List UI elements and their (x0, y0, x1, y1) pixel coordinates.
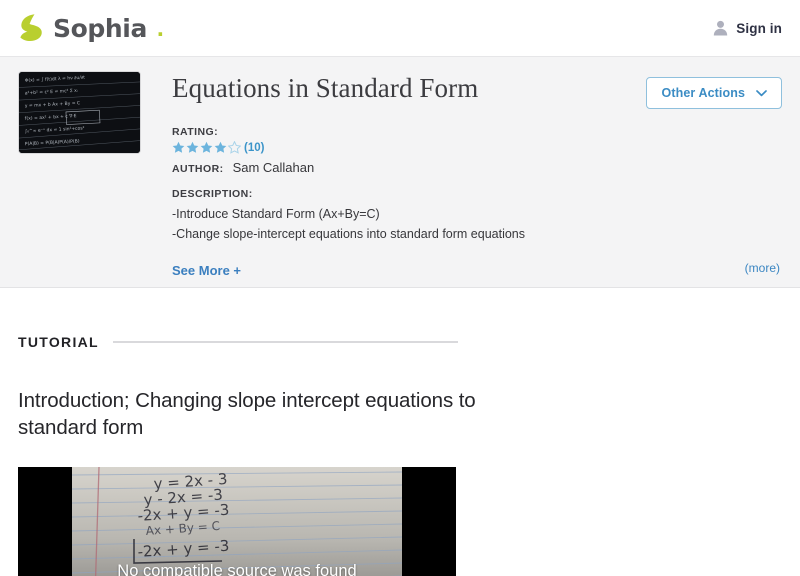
other-actions-button[interactable]: Other Actions (646, 77, 782, 109)
see-more-link[interactable]: See More + (172, 263, 241, 278)
author-label: AUTHOR: (172, 163, 224, 175)
star-icon-filled-2[interactable] (186, 141, 200, 154)
rating-block: RATING: (172, 122, 782, 154)
lesson-thumbnail[interactable]: Φ(x) = ∫ f(t)dt λ = hν ∂u/∂t a²+b² = c² … (18, 71, 141, 154)
rating-stars[interactable]: (10) (172, 141, 782, 154)
rating-count: (10) (244, 142, 264, 154)
star-icon-filled-4[interactable] (214, 141, 228, 154)
lesson-info-card: Φ(x) = ∫ f(t)dt λ = hν ∂u/∂t a²+b² = c² … (0, 56, 800, 288)
video-player[interactable]: y = 2x - 3 y - 2x = -3 -2x + y = -3 Ax +… (18, 467, 456, 576)
brand-logo-link[interactable]: Sophia . (18, 13, 164, 43)
description-line: -Change slope-intercept equations into s… (172, 224, 782, 244)
tutorial-section: TUTORIAL Introduction; Changing slope in… (0, 334, 800, 576)
chevron-down-icon (756, 90, 767, 97)
top-navigation-bar: Sophia . Sign in (0, 0, 800, 56)
author-block: AUTHOR: Sam Callahan (172, 160, 782, 175)
description-line: -Introduce Standard Form (Ax+By=C) (172, 204, 782, 224)
brand-name: Sophia (53, 14, 147, 43)
video-poster: y = 2x - 3 y - 2x = -3 -2x + y = -3 Ax +… (72, 467, 402, 576)
section-divider (113, 341, 458, 343)
tutorial-section-label: TUTORIAL (18, 334, 99, 350)
brand-trademark: . (157, 14, 164, 43)
tutorial-section-header: TUTORIAL (18, 334, 458, 350)
sign-in-button[interactable]: Sign in (713, 20, 782, 36)
author-name: Sam Callahan (233, 160, 315, 175)
sign-in-label: Sign in (736, 21, 782, 36)
tutorial-heading: Introduction; Changing slope intercept e… (18, 387, 478, 441)
star-icon-filled-3[interactable] (200, 141, 214, 154)
more-link[interactable]: (more) (745, 261, 780, 275)
description-block: DESCRIPTION: -Introduce Standard Form (A… (172, 188, 782, 245)
rating-label: RATING: (172, 126, 218, 138)
description-label: DESCRIPTION: (172, 188, 782, 200)
other-actions-label: Other Actions (662, 86, 745, 100)
star-icon-filled-1[interactable] (172, 141, 186, 154)
star-icon-empty-5[interactable] (228, 141, 242, 154)
sophia-swoosh-logo-icon (18, 13, 44, 43)
person-icon (713, 20, 728, 36)
